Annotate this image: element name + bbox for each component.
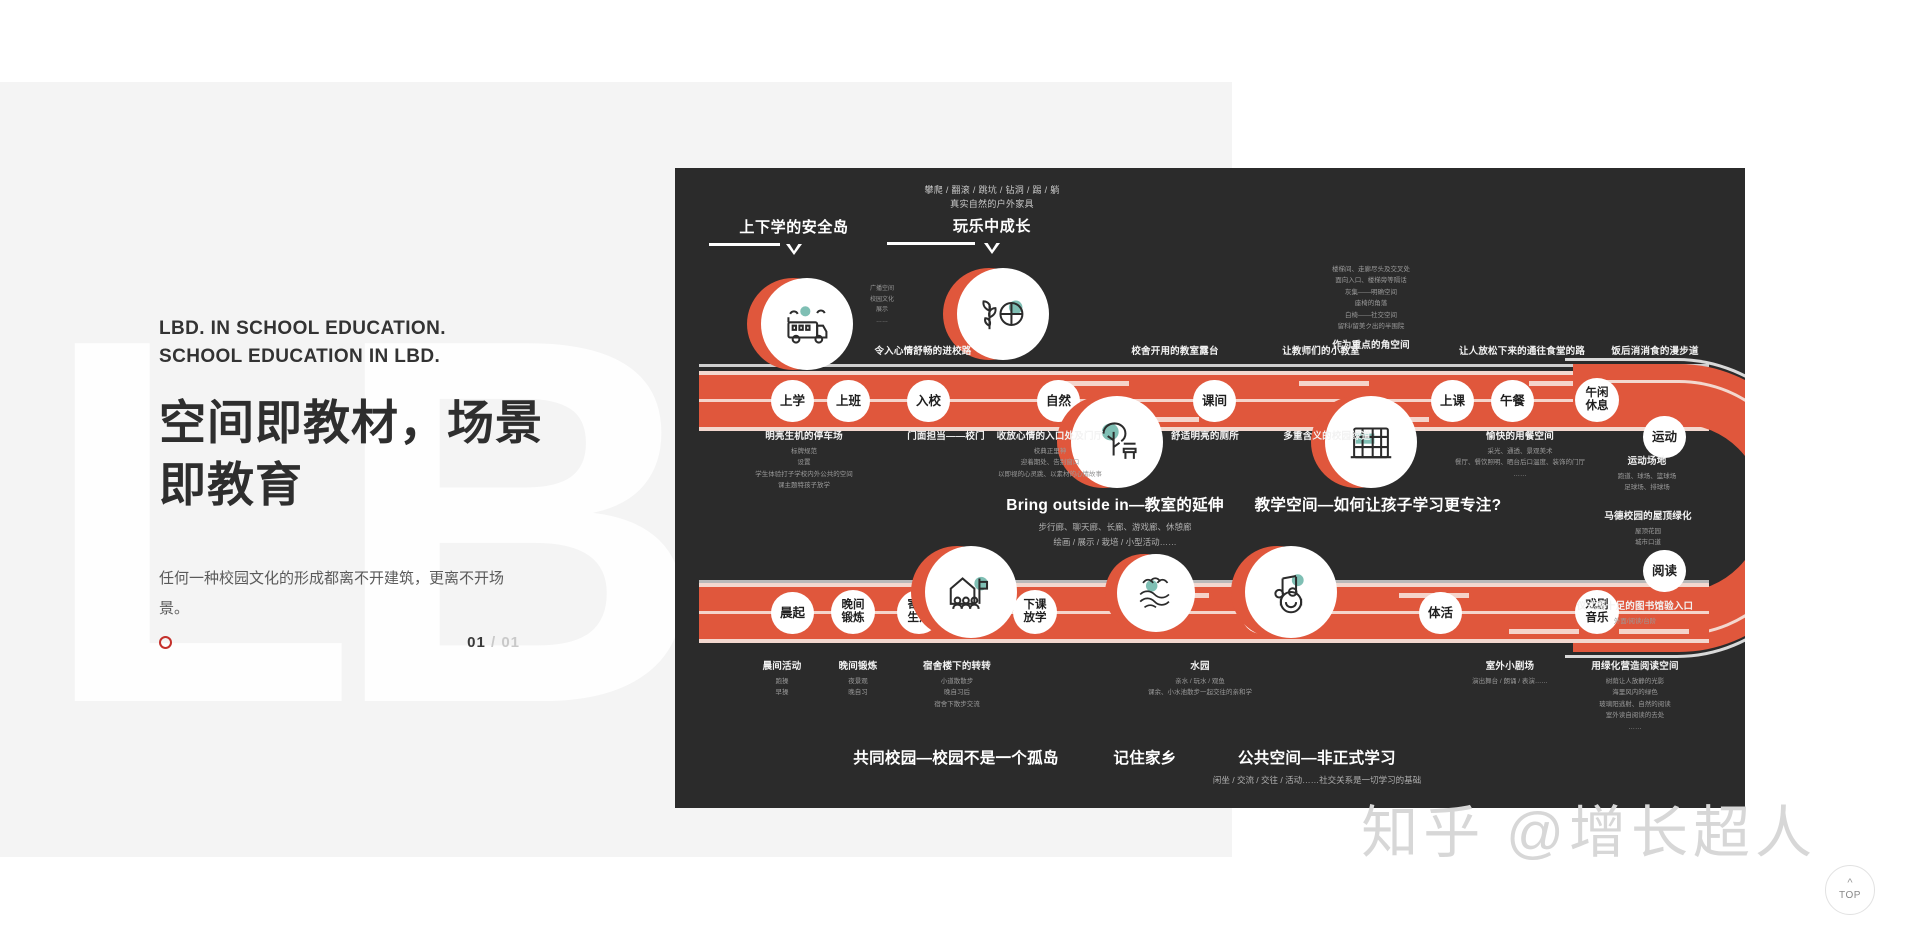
pagination-total: 01 xyxy=(501,634,520,651)
bracket-tip xyxy=(786,244,802,255)
road-dash xyxy=(1299,381,1369,386)
callout-bracket xyxy=(887,242,1097,256)
music-smile-icon xyxy=(1264,565,1318,619)
station-top-3[interactable]: 入校 xyxy=(907,380,950,422)
pagination: 01 / 01 xyxy=(159,634,520,651)
school-bus-icon xyxy=(780,297,834,351)
caption-sub: 标牌规范 设置 学生体验打子学校内外公共的空间 课主题特孩子放学 xyxy=(729,446,879,492)
infographic-image[interactable]: 上学 上班 入校 自然 课间 上课 午餐 午闲 休息 运动 晨起 晚间 锻炼 寄… xyxy=(675,168,1745,808)
station-bottom-2[interactable]: 晚间 锻炼 xyxy=(831,590,875,634)
caption-head: 运动场地 xyxy=(1587,453,1707,467)
node-safe-island[interactable] xyxy=(747,278,839,370)
node-teaching-space[interactable] xyxy=(1311,396,1403,488)
caption-sub: 小道散散步 晚自习后 宿舍下散步交流 xyxy=(887,676,1027,710)
chevron-up-icon: ^ xyxy=(1847,879,1852,889)
callout-title: 玩乐中成长 xyxy=(887,215,1097,236)
caption-sub: 外面/阅读/台阶 xyxy=(1555,616,1715,627)
station-top-2[interactable]: 上班 xyxy=(827,380,870,422)
station-top-5[interactable]: 课间 xyxy=(1193,380,1236,422)
slide-text-block: LBD. IN SCHOOL EDUCATION. SCHOOL EDUCATI… xyxy=(159,315,579,624)
heading-title: 共同校园—校园不是一个孤岛 xyxy=(831,746,1081,768)
caption-sub: 校典正里神 迎着期处、告别窗口 以即视的心灵跳、以素材的心情故事 xyxy=(955,446,1145,480)
caption-dorm: 宿舍楼下的转转 小道散散步 晚自习后 宿舍下散步交流 xyxy=(887,658,1027,710)
station-bottom-6[interactable]: 体活 xyxy=(1419,592,1462,634)
node-disc xyxy=(1325,396,1417,488)
heading-title: 公共空间—非正式学习 xyxy=(1187,746,1447,768)
station-top-1[interactable]: 上学 xyxy=(771,380,814,422)
station-top-7[interactable]: 午餐 xyxy=(1491,380,1534,422)
heading-title: 教学空间—如何让孩子学习更专注? xyxy=(1243,493,1513,515)
callout-title: 上下学的安全岛 xyxy=(709,216,879,237)
pagination-numbers: 01 / 01 xyxy=(467,634,520,651)
caption-head: 令入心情舒畅的进校路 xyxy=(833,343,1013,357)
plant-ball-icon xyxy=(976,287,1030,341)
bracket-bar-right xyxy=(887,242,975,245)
heading-public-space: 公共空间—非正式学习 闲坐 / 交流 / 交往 / 活动……社交关系是一切学习的… xyxy=(1187,746,1447,787)
caption-rooftop: 马德校园的屋顶绿化 屋顶花园 城市口道 xyxy=(1583,508,1713,549)
caption-sub: 屋顶花园 城市口道 xyxy=(1583,526,1713,549)
caption-after-meal: 饭后消消食的漫步道 xyxy=(1575,343,1735,357)
caption-sub: 广播空间 校园文化 展示 …… xyxy=(847,284,917,326)
caption-corner: 楼梯间、走廊尽头及交叉处 面向入口、楼梯旁等隔话 灰集——明确空间 座椅的角落 … xyxy=(1291,260,1451,351)
node-public-space[interactable] xyxy=(1231,546,1323,638)
node-shared-campus[interactable] xyxy=(911,546,1003,638)
body-paragraph: 任何一种校园文化的形成都离不开建筑，更离不开场景。 xyxy=(159,564,519,624)
bracket-bar-right xyxy=(709,243,780,246)
back-to-top-label: TOP xyxy=(1839,890,1861,901)
station-bottom-1[interactable]: 晨起 xyxy=(771,592,814,634)
caption-entry-road: 令入心情舒畅的进校路 xyxy=(833,343,1013,357)
zhihu-watermark: 知乎 @增长超人 xyxy=(1361,787,1817,869)
caption-head: 愉快的用餐空间 xyxy=(1435,428,1605,442)
water-fish-icon xyxy=(1133,570,1179,616)
caption-sub: 亲水 / 玩水 / 观鱼 课余、小水池散步一起交往的亲和学 xyxy=(1135,676,1265,699)
station-bottom-4[interactable]: 下课 放学 xyxy=(1013,590,1057,634)
road-top-outline xyxy=(699,364,1709,367)
caption-corridor: 多重含义的校园绿道 xyxy=(1247,428,1407,442)
caption-sub: 楼梯间、走廊尽头及交叉处 面向入口、楼梯旁等隔话 灰集——明确空间 座椅的角落 … xyxy=(1291,264,1451,332)
classroom-building-icon xyxy=(1344,415,1398,469)
callout-safe-island: 上下学的安全岛 xyxy=(709,216,879,257)
caption-library-entry: 仪式感十足的图书馆验入口 外面/阅读/台阶 xyxy=(1555,598,1715,627)
heading-teaching-space: 教学空间—如何让孩子学习更专注? xyxy=(1243,493,1513,515)
caption-parking: 明亮生机的停车场 标牌规范 设置 学生体验打子学校内外公共的空间 课主题特孩子放… xyxy=(729,428,879,492)
node-remember-home[interactable] xyxy=(1105,554,1183,632)
caption-head: 水园 xyxy=(1135,658,1265,672)
caption-stage: 校舍开用的教室露台 xyxy=(1095,343,1255,357)
caption-sub: 采光、通透、景观美术 餐厅、餐饮照明、晒台后口温度、装饰的门厅 …… xyxy=(1435,446,1605,480)
node-disc xyxy=(925,546,1017,638)
pagination-current: 01 xyxy=(467,634,486,651)
caption-reading-green: 用绿化营造阅读空间 树荫让人放静的光影 海里风内的绿色 玻璃阳逃射、自然的阅读 … xyxy=(1555,658,1715,733)
heading-sub-1: 步行廊、聊天廊、长廊、游戏廊、休憩廊 xyxy=(985,520,1245,534)
back-to-top-button[interactable]: ^ TOP xyxy=(1825,865,1875,915)
caption-sports-ground: 运动场地 跑道、球场、篮球场 足球场、排球场 xyxy=(1587,453,1707,494)
page-root: L B D C LBD. IN SCHOOL EDUCATION. SCHOOL… xyxy=(0,0,1905,937)
caption-head: 马德校园的屋顶绿化 xyxy=(1583,508,1713,522)
page-title: 空间即教材，场景即教育 xyxy=(159,392,579,516)
caption-head: 饭后消消食的漫步道 xyxy=(1575,343,1735,357)
caption-head: 明亮生机的停车场 xyxy=(729,428,879,442)
callout-pre-line-2: 真实自然的户外家具 xyxy=(887,198,1097,212)
caption-head: 多重含义的校园绿道 xyxy=(1247,428,1407,442)
callout-pre-line-1: 攀爬 / 翻滚 / 跳坑 / 钻洞 / 踢 / 躺 xyxy=(887,184,1097,198)
caption-lobby: 收放心情的入口处及门厅 校典正里神 迎着期处、告别窗口 以即视的心灵跳、以素材的… xyxy=(955,428,1145,480)
callout-bracket xyxy=(709,243,879,257)
road-dash xyxy=(1619,629,1689,634)
caption-head: 仪式感十足的图书馆验入口 xyxy=(1555,598,1715,612)
heading-shared-campus: 共同校园—校园不是一个孤岛 xyxy=(831,746,1081,768)
road-dash xyxy=(1509,629,1579,634)
caption-head: 校舍开用的教室露台 xyxy=(1095,343,1255,357)
eyebrow-line-2: SCHOOL EDUCATION IN LBD. xyxy=(159,343,579,371)
callout-play-growth: 攀爬 / 翻滚 / 跳坑 / 钻洞 / 踢 / 躺 真实自然的户外家具 玩乐中成… xyxy=(887,184,1097,256)
station-bottom-8[interactable]: 阅读 xyxy=(1643,550,1686,592)
caption-head: 收放心情的入口处及门厅 xyxy=(955,428,1145,442)
caption-water-yard: 水园 亲水 / 玩水 / 观鱼 课余、小水池散步一起交往的亲和学 xyxy=(1135,658,1265,699)
caption-broadcast: 广播空间 校园文化 展示 …… xyxy=(847,280,917,326)
node-disc xyxy=(1117,554,1195,632)
caption-sub: 跑道、球场、篮球场 足球场、排球场 xyxy=(1587,471,1707,494)
bracket-tip xyxy=(984,243,1000,254)
heading-sub-1: 闲坐 / 交流 / 交往 / 活动……社交关系是一切学习的基础 xyxy=(1187,773,1447,787)
eyebrow-line-1: LBD. IN SCHOOL EDUCATION. xyxy=(159,315,579,343)
caption-head: 用绿化营造阅读空间 xyxy=(1555,658,1715,672)
caption-head: 宿舍楼下的转转 xyxy=(887,658,1027,672)
heading-bring-outside-in: Bring outside in—教室的延伸 步行廊、聊天廊、长廊、游戏廊、休憩… xyxy=(985,493,1245,550)
house-people-icon xyxy=(944,565,998,619)
caption-sub: 树荫让人放静的光影 海里风内的绿色 玻璃阳逃射、自然的阅读 室外读自阅读的去处 … xyxy=(1555,676,1715,733)
node-disc xyxy=(1245,546,1337,638)
pagination-separator: / xyxy=(491,634,496,651)
station-top-8[interactable]: 午闲 休息 xyxy=(1575,378,1619,422)
caption-lunch-space: 愉快的用餐空间 采光、通透、景观美术 餐厅、餐饮照明、晒台后口温度、装饰的门厅 … xyxy=(1435,428,1605,480)
pagination-dot[interactable] xyxy=(159,636,172,649)
heading-sub-2: 绘画 / 展示 / 栽培 / 小型活动…… xyxy=(985,535,1245,549)
heading-title: Bring outside in—教室的延伸 xyxy=(985,493,1245,515)
station-top-9[interactable]: 运动 xyxy=(1643,416,1686,458)
station-top-6[interactable]: 上课 xyxy=(1431,380,1474,422)
